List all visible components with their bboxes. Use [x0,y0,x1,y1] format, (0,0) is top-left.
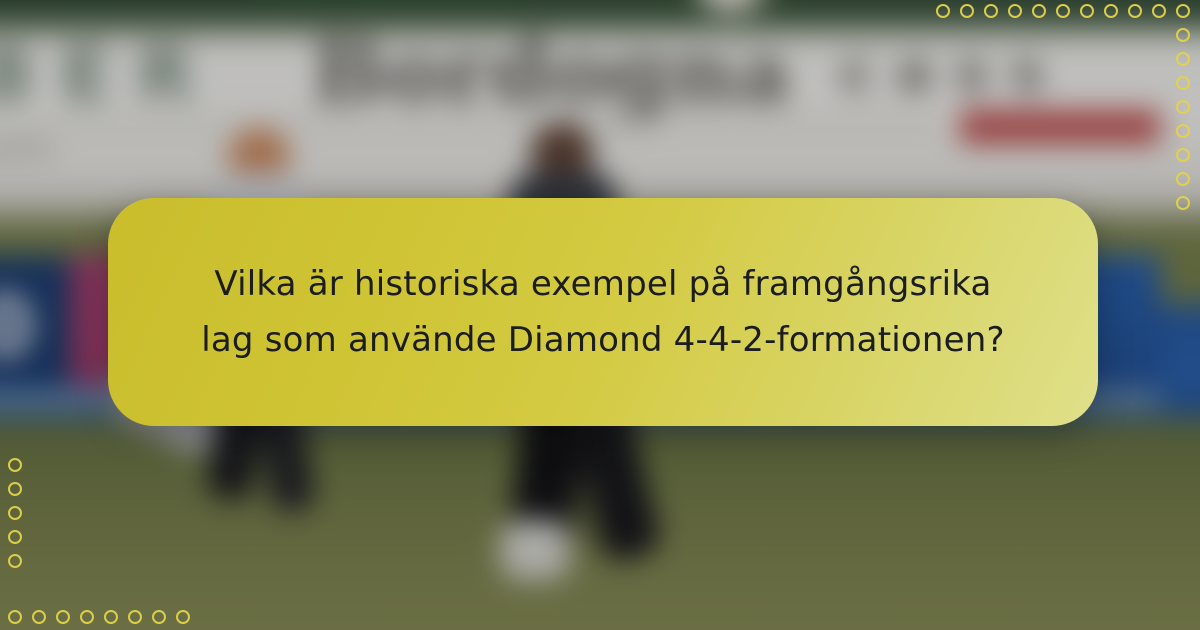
decor-dot [960,4,974,18]
decor-dot [32,610,46,624]
decor-dots-right-column [1176,28,1190,210]
decor-dot [176,610,190,624]
decor-dot [1080,4,1094,18]
question-line-1: Vilka är historiska exempel på framgångs… [214,256,991,312]
decor-dot [8,506,22,520]
decor-dots-left-column [8,458,22,568]
decor-dot [1176,172,1190,186]
decor-dot [1176,196,1190,210]
question-line-2: lag som använde Diamond 4-4-2-formatione… [201,312,1004,368]
share-card-image: BER Bordogna cass ustc 0 RCS [0,0,1200,630]
decor-dot [8,482,22,496]
decor-dot [8,554,22,568]
decor-dot [128,610,142,624]
decor-dot [8,530,22,544]
decor-dots-top-right [936,4,1190,18]
decor-dot [1104,4,1118,18]
decor-dot [936,4,950,18]
decor-dot [1176,52,1190,66]
decor-dot [8,610,22,624]
decor-dot [104,610,118,624]
decor-dot [1176,28,1190,42]
decor-dot [1056,4,1070,18]
decor-dots-bottom-left [8,610,190,624]
decor-dot [1128,4,1142,18]
decor-dot [1176,100,1190,114]
decor-dot [152,610,166,624]
decor-dot [1176,124,1190,138]
decor-dot [1176,148,1190,162]
decor-dot [1032,4,1046,18]
decor-dot [56,610,70,624]
decor-dot [8,458,22,472]
decor-dot [80,610,94,624]
decor-dot [984,4,998,18]
decor-dot [1176,4,1190,18]
decor-dot [1008,4,1022,18]
question-card: Vilka är historiska exempel på framgångs… [108,198,1098,426]
decor-dot [1152,4,1166,18]
decor-dot [1176,76,1190,90]
